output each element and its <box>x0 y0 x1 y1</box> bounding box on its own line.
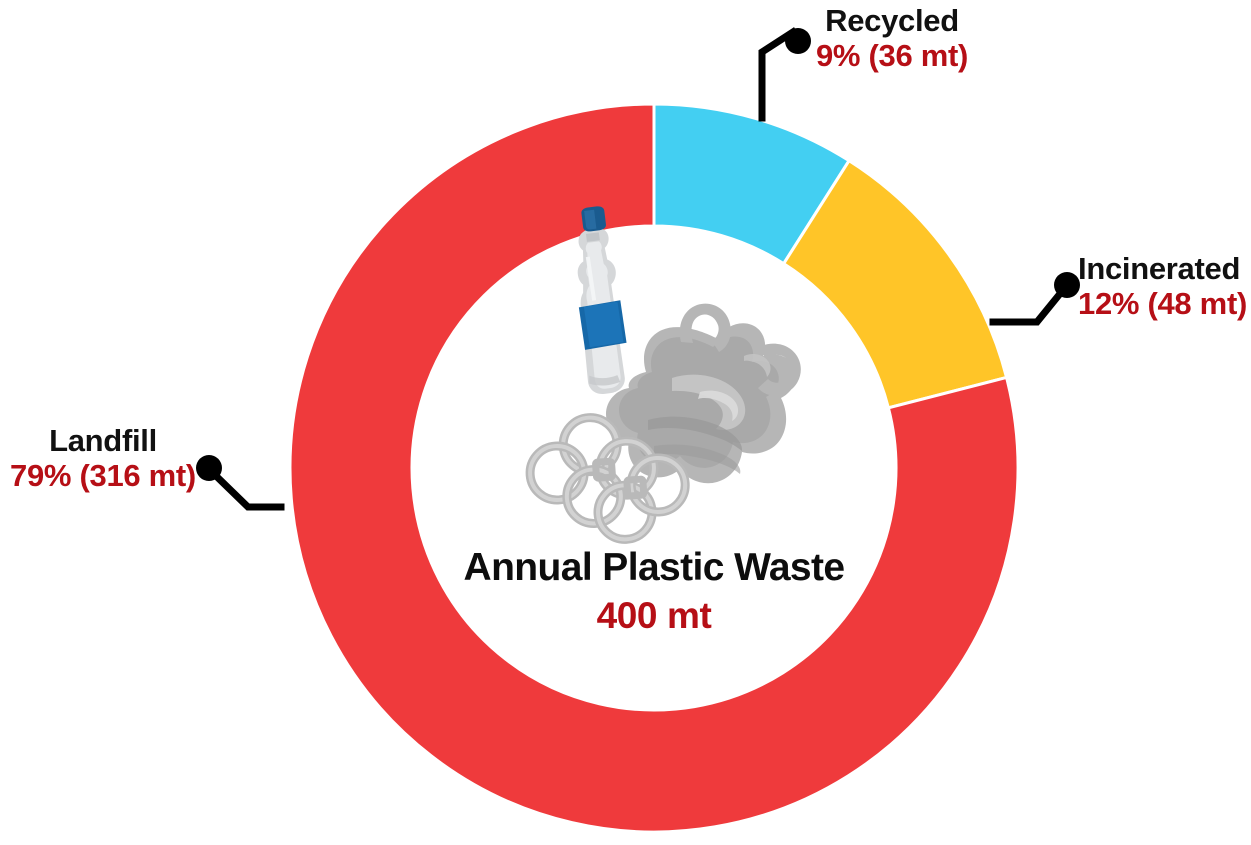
leader-lines <box>0 0 1251 845</box>
callout-recycled-category: Recycled <box>772 4 1012 39</box>
callout-landfill-category: Landfill <box>8 424 198 459</box>
callout-incinerated-category: Incinerated <box>1078 252 1247 287</box>
leader-dot-landfill <box>196 455 222 481</box>
leader-landfill <box>196 455 281 507</box>
callout-landfill-value: 79% (316 mt) <box>8 459 198 494</box>
callout-landfill: Landfill 79% (316 mt) <box>8 424 198 493</box>
callout-incinerated-value: 12% (48 mt) <box>1078 287 1247 322</box>
callout-recycled-value: 9% (36 mt) <box>772 39 1012 74</box>
leader-incinerated <box>993 272 1080 322</box>
leader-dot-incinerated <box>1054 272 1080 298</box>
donut-center-title: Annual Plastic Waste <box>464 548 845 589</box>
callout-incinerated: Incinerated 12% (48 mt) <box>1078 252 1247 321</box>
infographic-canvas: Recycled 9% (36 mt) Incinerated 12% (48 … <box>0 0 1251 845</box>
donut-center-value: 400 mt <box>464 595 845 638</box>
callout-recycled: Recycled 9% (36 mt) <box>772 4 1012 73</box>
donut-center-label: Annual Plastic Waste 400 mt <box>464 548 845 637</box>
